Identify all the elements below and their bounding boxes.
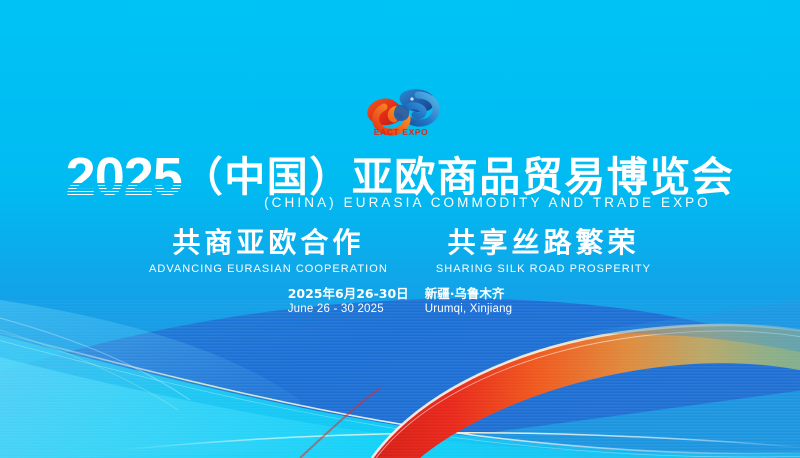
- headline-year: 2025: [66, 150, 182, 204]
- event-place: 新疆·乌鲁木齐 Urumqi, Xinjiang: [425, 286, 513, 317]
- headline-chinese: （中国）亚欧商品贸易博览会: [182, 157, 735, 198]
- slogan-left-english: ADVANCING EURASIAN COOPERATION: [149, 263, 388, 275]
- event-place-english: Urumqi, Xinjiang: [425, 302, 513, 317]
- event-date-english: June 26 - 30 2025: [288, 302, 409, 317]
- slogan-right-chinese: 共享丝路繁荣: [436, 228, 651, 259]
- slogan-block: 共商亚欧合作 ADVANCING EURASIAN COOPERATION 共享…: [0, 228, 800, 275]
- eact-expo-logo-icon: EACT EXPO: [354, 85, 446, 137]
- event-date: 2025年6月26-30日 June 26 - 30 2025: [288, 286, 409, 317]
- logo-wordmark: EACT EXPO: [374, 127, 429, 137]
- headline-block: 2025（中国）亚欧商品贸易博览会 (CHINA) EURASIA COMMOD…: [0, 150, 800, 204]
- slogan-left-chinese: 共商亚欧合作: [149, 228, 388, 259]
- expo-poster: EACT EXPO 2025（中国）亚欧商品贸易博览会 (CHINA) EURA…: [0, 0, 800, 458]
- event-info-block: 2025年6月26-30日 June 26 - 30 2025 新疆·乌鲁木齐 …: [0, 286, 800, 317]
- slogan-right-english: SHARING SILK ROAD PROSPERITY: [436, 263, 651, 275]
- logo-container: EACT EXPO: [0, 84, 800, 138]
- event-date-chinese: 2025年6月26-30日: [288, 286, 409, 302]
- headline-english: (CHINA) EURASIA COMMODITY AND TRADE EXPO: [241, 196, 735, 210]
- slogan-right: 共享丝路繁荣 SHARING SILK ROAD PROSPERITY: [436, 228, 651, 275]
- event-place-chinese: 新疆·乌鲁木齐: [425, 286, 513, 302]
- slogan-left: 共商亚欧合作 ADVANCING EURASIAN COOPERATION: [149, 228, 388, 275]
